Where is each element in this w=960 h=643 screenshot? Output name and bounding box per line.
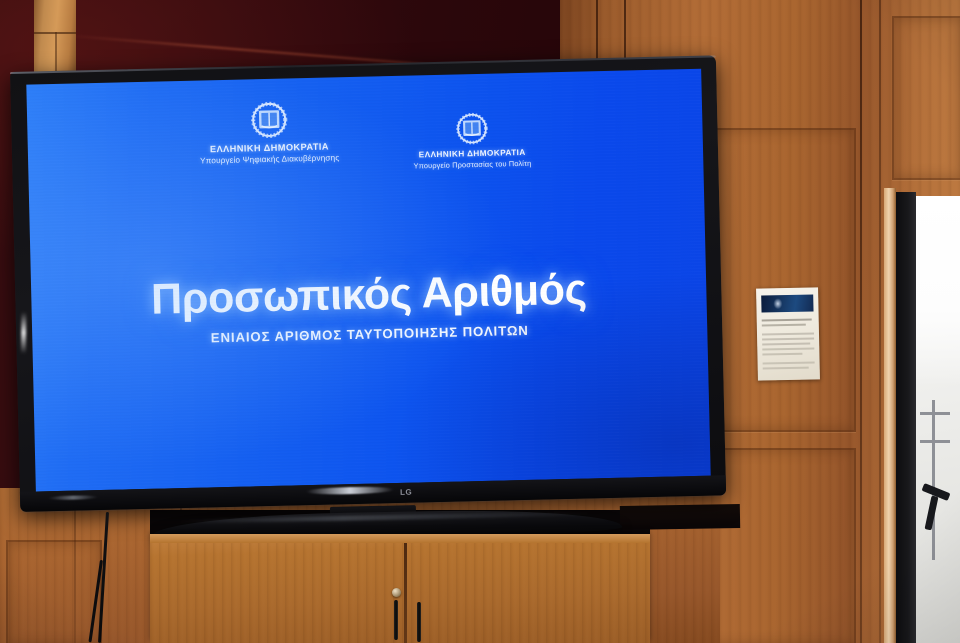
screen-scanlines [26, 69, 710, 492]
cabinet-keyhole[interactable] [392, 588, 401, 597]
doorway-daylight-glow [916, 196, 960, 386]
door-edge-dark [896, 192, 916, 643]
wood-seam-4 [879, 0, 881, 643]
cabinet-door-split [404, 543, 407, 643]
room-scene: ΕΛΛΗΝΙΚΗ ΔΗΜΟΚΡΑΤΙΑ Υπουργείο Ψηφιακής Δ… [0, 0, 960, 643]
tv-brand-logo: LG [400, 488, 413, 497]
cabinet-handle-right[interactable] [417, 602, 421, 642]
tv-bezel-gloss [306, 486, 394, 495]
door-jamb [884, 188, 896, 643]
television[interactable]: ΕΛΛΗΝΙΚΗ ΔΗΜΟΚΡΑΤΙΑ Υπουργείο Ψηφιακής Δ… [10, 55, 726, 512]
tv-bezel-gloss-secondary [48, 495, 98, 500]
doorway-rail-lower [920, 440, 950, 443]
wall-panel-corner [892, 16, 960, 180]
wall-notice-paper [756, 287, 820, 380]
lower-wall-panel [6, 540, 102, 643]
wood-seam-3 [860, 0, 862, 643]
cabinet-handle-left[interactable] [394, 600, 398, 640]
tv-screen: ΕΛΛΗΝΙΚΗ ΔΗΜΟΚΡΑΤΙΑ Υπουργείο Ψηφιακής Δ… [26, 69, 710, 492]
tv-under-shadow-right [620, 504, 740, 530]
notice-banner-highlight [773, 298, 782, 309]
notice-image-banner [761, 294, 813, 312]
doorway-post [932, 400, 935, 560]
wooden-cabinet[interactable] [150, 534, 650, 643]
tv-bezel-glint [21, 312, 26, 354]
cabinet-grain-texture [150, 534, 650, 643]
doorway-rail-upper [920, 412, 950, 415]
cabinet-top-edge [150, 534, 650, 543]
